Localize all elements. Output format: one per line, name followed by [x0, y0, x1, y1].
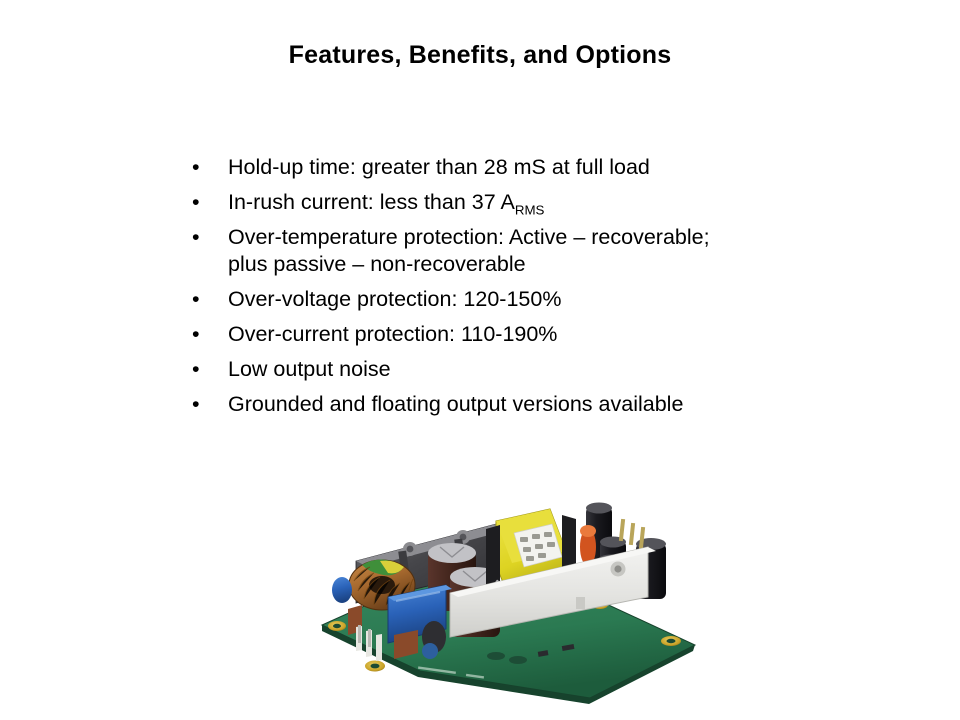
bullet-marker-icon: •: [192, 321, 206, 348]
bullet-marker-icon: •: [192, 356, 206, 383]
bullet-item-over-voltage-protection: • Over-voltage protection: 120-150%: [186, 286, 806, 313]
power-supply-illustration: [300, 485, 710, 710]
bullet-marker-icon: •: [192, 391, 206, 418]
bullet-item-over-temperature-protection: • Over-temperature protection: Active – …: [186, 224, 806, 278]
bullet-text: Over-current protection: 110-190%: [228, 321, 806, 348]
bullet-item-hold-up-time: • Hold-up time: greater than 28 mS at fu…: [186, 154, 806, 181]
page-title: Features, Benefits, and Options: [0, 42, 960, 70]
bullet-marker-icon: •: [192, 189, 206, 216]
product-photo-power-supply-board: [300, 485, 710, 710]
bullet-text: Low output noise: [228, 356, 806, 383]
bullet-text-main: In-rush current: less than 37 A: [228, 190, 515, 214]
bullet-text: Grounded and floating output versions av…: [228, 391, 806, 418]
feature-bullet-list: • Hold-up time: greater than 28 mS at fu…: [186, 154, 806, 426]
bullet-marker-icon: •: [192, 154, 206, 181]
bullet-marker-icon: •: [192, 224, 206, 251]
bullet-item-low-output-noise: • Low output noise: [186, 356, 806, 383]
blue-capacitor-left: [332, 577, 352, 603]
slide-canvas: Features, Benefits, and Options • Hold-u…: [0, 0, 960, 720]
bullet-item-grounded-floating-output: • Grounded and floating output versions …: [186, 391, 806, 418]
bullet-text: In-rush current: less than 37 ARMS: [228, 189, 806, 216]
bullet-marker-icon: •: [192, 286, 206, 313]
bullet-item-in-rush-current: • In-rush current: less than 37 ARMS: [186, 189, 806, 216]
bullet-text-subscript: RMS: [515, 202, 545, 217]
bullet-text: Over-temperature protection: Active – re…: [228, 224, 806, 278]
bullet-text: Hold-up time: greater than 28 mS at full…: [228, 154, 806, 181]
bullet-item-over-current-protection: • Over-current protection: 110-190%: [186, 321, 806, 348]
bullet-text: Over-voltage protection: 120-150%: [228, 286, 806, 313]
